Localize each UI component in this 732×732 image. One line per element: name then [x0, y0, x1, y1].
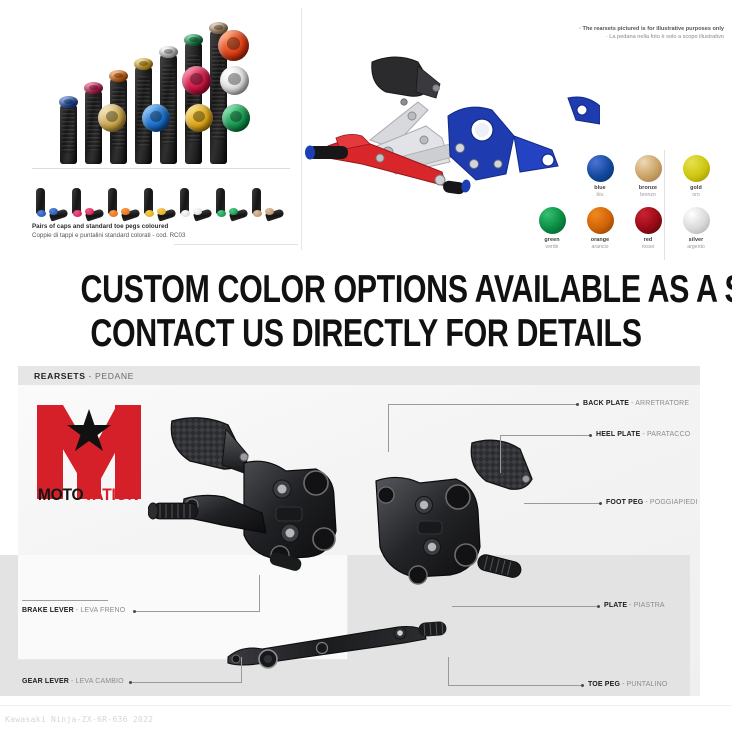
swatch-dot-orange: [587, 207, 614, 234]
blue-rearset-arm-right: [568, 97, 600, 124]
leader-toe-peg-v: [448, 657, 449, 686]
callout-brake-lever-it: - LEVA FRENO: [76, 607, 126, 614]
callout-heel-plate-en: HEEL PLATE: [596, 431, 640, 438]
caption-rule: [174, 244, 298, 245]
callout-gear-lever-en: GEAR LEVER: [22, 678, 69, 685]
top-imagery-section: Pairs of caps and standard toe pegs colo…: [0, 0, 732, 262]
loose-cap-silver: [220, 66, 249, 95]
loose-cap-green: [222, 104, 250, 132]
leader-gear-lever: [132, 682, 242, 683]
section-header-it: - PEDANE: [89, 371, 134, 381]
callout-plate-it: - PIASTRA: [629, 602, 665, 609]
leader-dot-back-plate: [576, 403, 579, 406]
leader-gear-lever-v: [241, 657, 242, 683]
callout-back-plate: BACK PLATE - ARRETRATORE: [583, 399, 689, 408]
callout-plate: PLATE - PIASTRA: [604, 601, 665, 610]
swatch-label-en: gold: [674, 185, 718, 192]
leader-dot-plate: [597, 605, 600, 608]
swatch-dot-green: [539, 207, 566, 234]
leader-heel-plate-v: [500, 435, 501, 473]
swatch-orange[interactable]: orange arancio: [578, 207, 622, 251]
leader-toe-peg: [448, 685, 582, 686]
wordmark-moto: MOTO: [38, 485, 84, 504]
footer-bar: Kawasaki Ninja-ZX-6R-636 2022: [0, 709, 732, 732]
callout-plate-en: PLATE: [604, 602, 627, 609]
leader-dot-toe-peg: [581, 684, 584, 687]
footer-rule: [0, 705, 732, 706]
swatch-label-it: arancio: [578, 244, 622, 251]
swatch-label-it: argento: [674, 244, 718, 251]
illustrative-note: · The rearsets pictured is for illustrat…: [504, 25, 724, 41]
headline-line-1: CUSTOM COLOR OPTIONS AVAILABLE AS A SPEC…: [81, 268, 652, 312]
swatch-gold[interactable]: gold oro: [674, 155, 718, 199]
callout-gear-lever: GEAR LEVER - LEVA CAMBIO: [22, 677, 124, 686]
black-rearset-photo-rear: [340, 435, 570, 615]
callout-brake-lever: BRAKE LEVER - LEVA FRENO: [22, 606, 125, 615]
callout-foot-peg-en: FOOT PEG: [606, 499, 643, 506]
swatch-dot-gold: [683, 155, 710, 182]
swatch-dot-blue: [587, 155, 614, 182]
rearsets-diagram-panel: REARSETS - PEDANE MOTOVATION: [0, 357, 732, 709]
gear-lever-photo: [218, 619, 448, 677]
swatch-label-en: silver: [674, 237, 718, 244]
loose-cap-blue: [142, 104, 170, 132]
vehicle-caption: Kawasaki Ninja-ZX-6R-636 2022: [5, 715, 153, 724]
foot-peg-shape: [152, 503, 198, 519]
loose-cap-red-top: [218, 30, 249, 61]
catalog-caption-en: Pairs of caps and standard toe pegs colo…: [32, 222, 294, 231]
catalog-caption-it: Coppie di tappi e puntalini standard col…: [32, 231, 294, 240]
tall-peg-group: [36, 26, 246, 164]
swatch-dot-silver: [683, 207, 710, 234]
callout-heel-plate-it: - PARATACCO: [642, 431, 690, 438]
leader-foot-peg: [524, 503, 600, 504]
swatch-silver[interactable]: silver argento: [674, 207, 718, 251]
custom-color-headline: CUSTOM COLOR OPTIONS AVAILABLE AS A SPEC…: [0, 262, 732, 357]
callout-foot-peg-it: - POGGIAPIEDI: [645, 499, 697, 506]
product-page: Pairs of caps and standard toe pegs colo…: [0, 0, 732, 732]
swatch-divider: [664, 150, 665, 260]
motovation-wordmark: MOTOVATION: [33, 485, 143, 505]
leader-brake-lever: [136, 611, 260, 612]
callout-toe-peg: TOE PEG - PUNTALINO: [588, 680, 667, 689]
illustrative-note-en: · The rearsets pictured is for illustrat…: [504, 25, 724, 33]
section-header: REARSETS - PEDANE: [18, 366, 700, 385]
leader-dot-heel-plate: [589, 434, 592, 437]
leader-brake-lever-v: [259, 575, 260, 612]
swatch-label-it: oro: [674, 192, 718, 199]
swatch-green[interactable]: green verde: [530, 207, 574, 251]
callout-toe-peg-en: TOE PEG: [588, 681, 620, 688]
left-divider-rule: [22, 600, 108, 601]
leader-dot-foot-peg: [599, 502, 602, 505]
callout-gear-lever-it: - LEVA CAMBIO: [71, 678, 124, 685]
color-swatch-grid: blue blu bronze bronzo gold oro green ve…: [530, 155, 725, 260]
callout-brake-lever-en: BRAKE LEVER: [22, 607, 74, 614]
swatch-blue[interactable]: blue blu: [578, 155, 622, 199]
callout-toe-peg-it: - PUNTALINO: [622, 681, 667, 688]
loose-cap-gold: [185, 104, 213, 132]
leader-heel-plate: [500, 435, 590, 436]
swatch-label-en: green: [530, 237, 574, 244]
swatch-label-en: blue: [578, 185, 622, 192]
swatch-dot-red: [635, 207, 662, 234]
catalog-caption: Pairs of caps and standard toe pegs colo…: [32, 222, 294, 240]
section-header-en: REARSETS: [34, 371, 86, 381]
wordmark-vation: VATION: [83, 485, 138, 504]
callout-heel-plate: HEEL PLATE - PARATACCO: [596, 430, 690, 439]
mini-pairs-row: [36, 184, 286, 214]
loose-cap-bronze: [98, 104, 126, 132]
caps-and-toe-pegs-card: Pairs of caps and standard toe pegs colo…: [22, 8, 302, 250]
swatch-dot-bronze: [635, 155, 662, 182]
leader-back-plate: [388, 404, 578, 405]
callout-foot-peg: FOOT PEG - POGGIAPIEDI: [606, 498, 697, 507]
callout-back-plate-en: BACK PLATE: [583, 400, 629, 407]
swatch-label-it: blu: [578, 192, 622, 199]
card-divider: [32, 168, 290, 169]
leader-back-plate-v: [388, 404, 389, 452]
swatch-label-en: orange: [578, 237, 622, 244]
swatch-label-it: verde: [530, 244, 574, 251]
carbon-heel-plate: [372, 57, 440, 105]
headline-line-2: CONTACT US DIRECTLY FOR DETAILS: [81, 312, 652, 356]
leader-plate: [452, 606, 598, 607]
callout-back-plate-it: - ARRETRATORE: [631, 400, 689, 407]
loose-cap-crimson: [182, 66, 211, 95]
